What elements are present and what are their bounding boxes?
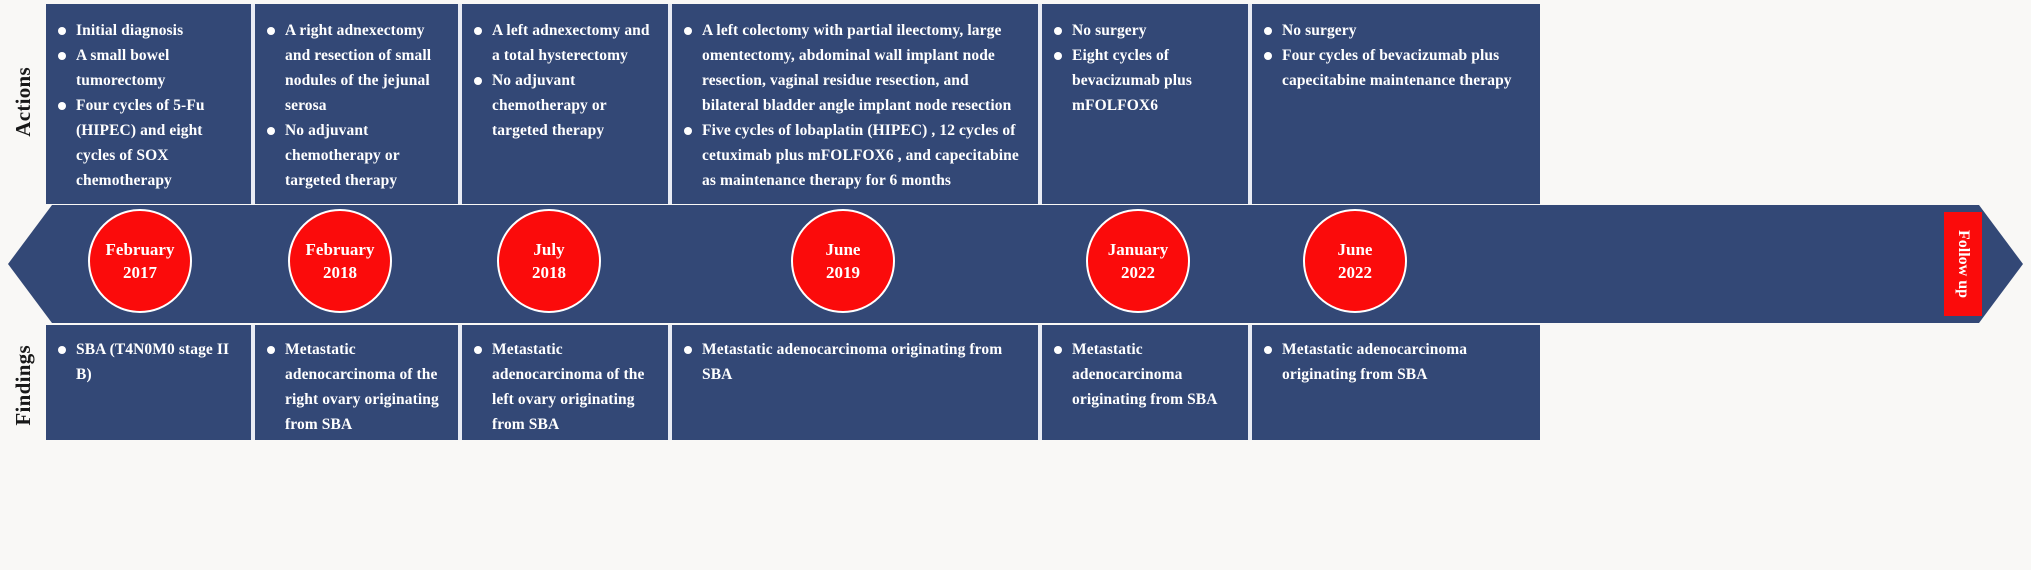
date-month: January xyxy=(1108,238,1168,261)
date-marker[interactable]: January2022 xyxy=(1086,209,1190,313)
actions-item: A small bowel tumorectomy xyxy=(58,43,241,93)
actions-cell: No surgeryEight cycles of bevacizumab pl… xyxy=(1040,4,1250,204)
findings-list: Metastatic adenocarcinoma originating fr… xyxy=(1042,325,1248,422)
findings-cell: Metastatic adenocarcinoma originating fr… xyxy=(670,325,1040,440)
actions-item: Four cycles of 5-Fu (HIPEC) and eight cy… xyxy=(58,93,241,193)
actions-item: No adjuvant chemotherapy or targeted the… xyxy=(267,118,448,193)
row-label-actions: Actions xyxy=(0,4,46,200)
actions-list: A left colectomy with partial ileectomy,… xyxy=(672,4,1038,203)
actions-item: Four cycles of bevacizumab plus capecita… xyxy=(1264,43,1530,93)
row-label-findings-text: Findings xyxy=(11,345,36,426)
date-year: 2022 xyxy=(1121,261,1155,284)
actions-cell: Initial diagnosisA small bowel tumorecto… xyxy=(46,4,253,204)
actions-item: Five cycles of lobaplatin (HIPEC) , 12 c… xyxy=(684,118,1028,193)
actions-cell: A right adnexectomy and resection of sma… xyxy=(253,4,460,204)
date-month: June xyxy=(826,238,861,261)
findings-list: Metastatic adenocarcinoma originating fr… xyxy=(672,325,1038,397)
findings-item: Metastatic adenocarcinoma originating fr… xyxy=(1054,337,1238,412)
actions-list: No surgeryFour cycles of bevacizumab plu… xyxy=(1252,4,1540,103)
findings-list: Metastatic adenocarcinoma of the right o… xyxy=(255,325,458,440)
actions-cell: A left adnexectomy and a total hysterect… xyxy=(460,4,670,204)
timeline-diagram: Actions Findings February2017February201… xyxy=(0,0,2031,570)
date-year: 2018 xyxy=(323,261,357,284)
follow-up-tab[interactable]: Follow up xyxy=(1944,212,1982,316)
date-year: 2019 xyxy=(826,261,860,284)
date-marker[interactable]: June2019 xyxy=(791,209,895,313)
findings-item: Metastatic adenocarcinoma originating fr… xyxy=(1264,337,1530,387)
findings-item: Metastatic adenocarcinoma of the right o… xyxy=(267,337,448,437)
actions-list: A left adnexectomy and a total hysterect… xyxy=(462,4,668,153)
findings-cell: SBA (T4N0M0 stage II B) xyxy=(46,325,253,440)
date-marker[interactable]: June2022 xyxy=(1303,209,1407,313)
actions-item: No surgery xyxy=(1264,18,1530,43)
row-label-findings: Findings xyxy=(0,330,46,440)
follow-up-label: Follow up xyxy=(1954,230,1972,298)
findings-cell: Metastatic adenocarcinoma originating fr… xyxy=(1250,325,1540,440)
date-year: 2022 xyxy=(1338,261,1372,284)
actions-item: No adjuvant chemotherapy or targeted the… xyxy=(474,68,658,143)
date-marker[interactable]: February2017 xyxy=(88,209,192,313)
findings-item: Metastatic adenocarcinoma of the left ov… xyxy=(474,337,658,437)
date-month: February xyxy=(306,238,375,261)
findings-cell: Metastatic adenocarcinoma originating fr… xyxy=(1040,325,1250,440)
actions-cell: A left colectomy with partial ileectomy,… xyxy=(670,4,1040,204)
actions-item: Eight cycles of bevacizumab plus mFOLFOX… xyxy=(1054,43,1238,118)
date-marker[interactable]: February2018 xyxy=(288,209,392,313)
findings-list: SBA (T4N0M0 stage II B) xyxy=(46,325,251,397)
actions-list: No surgeryEight cycles of bevacizumab pl… xyxy=(1042,4,1248,128)
row-label-actions-text: Actions xyxy=(11,67,36,137)
findings-list: Metastatic adenocarcinoma originating fr… xyxy=(1252,325,1540,397)
date-month: July xyxy=(533,238,564,261)
date-month: February xyxy=(106,238,175,261)
actions-item: A left colectomy with partial ileectomy,… xyxy=(684,18,1028,118)
date-year: 2018 xyxy=(532,261,566,284)
actions-cell: No surgeryFour cycles of bevacizumab plu… xyxy=(1250,4,1540,204)
findings-list: Metastatic adenocarcinoma of the left ov… xyxy=(462,325,668,440)
actions-item: Initial diagnosis xyxy=(58,18,241,43)
actions-item: A right adnexectomy and resection of sma… xyxy=(267,18,448,118)
date-year: 2017 xyxy=(123,261,157,284)
actions-item: A left adnexectomy and a total hysterect… xyxy=(474,18,658,68)
actions-list: A right adnexectomy and resection of sma… xyxy=(255,4,458,203)
date-month: June xyxy=(1338,238,1373,261)
findings-cell: Metastatic adenocarcinoma of the left ov… xyxy=(460,325,670,440)
actions-list: Initial diagnosisA small bowel tumorecto… xyxy=(46,4,251,203)
findings-cell: Metastatic adenocarcinoma of the right o… xyxy=(253,325,460,440)
findings-item: SBA (T4N0M0 stage II B) xyxy=(58,337,241,387)
findings-item: Metastatic adenocarcinoma originating fr… xyxy=(684,337,1028,387)
date-marker[interactable]: July2018 xyxy=(497,209,601,313)
actions-item: No surgery xyxy=(1054,18,1238,43)
